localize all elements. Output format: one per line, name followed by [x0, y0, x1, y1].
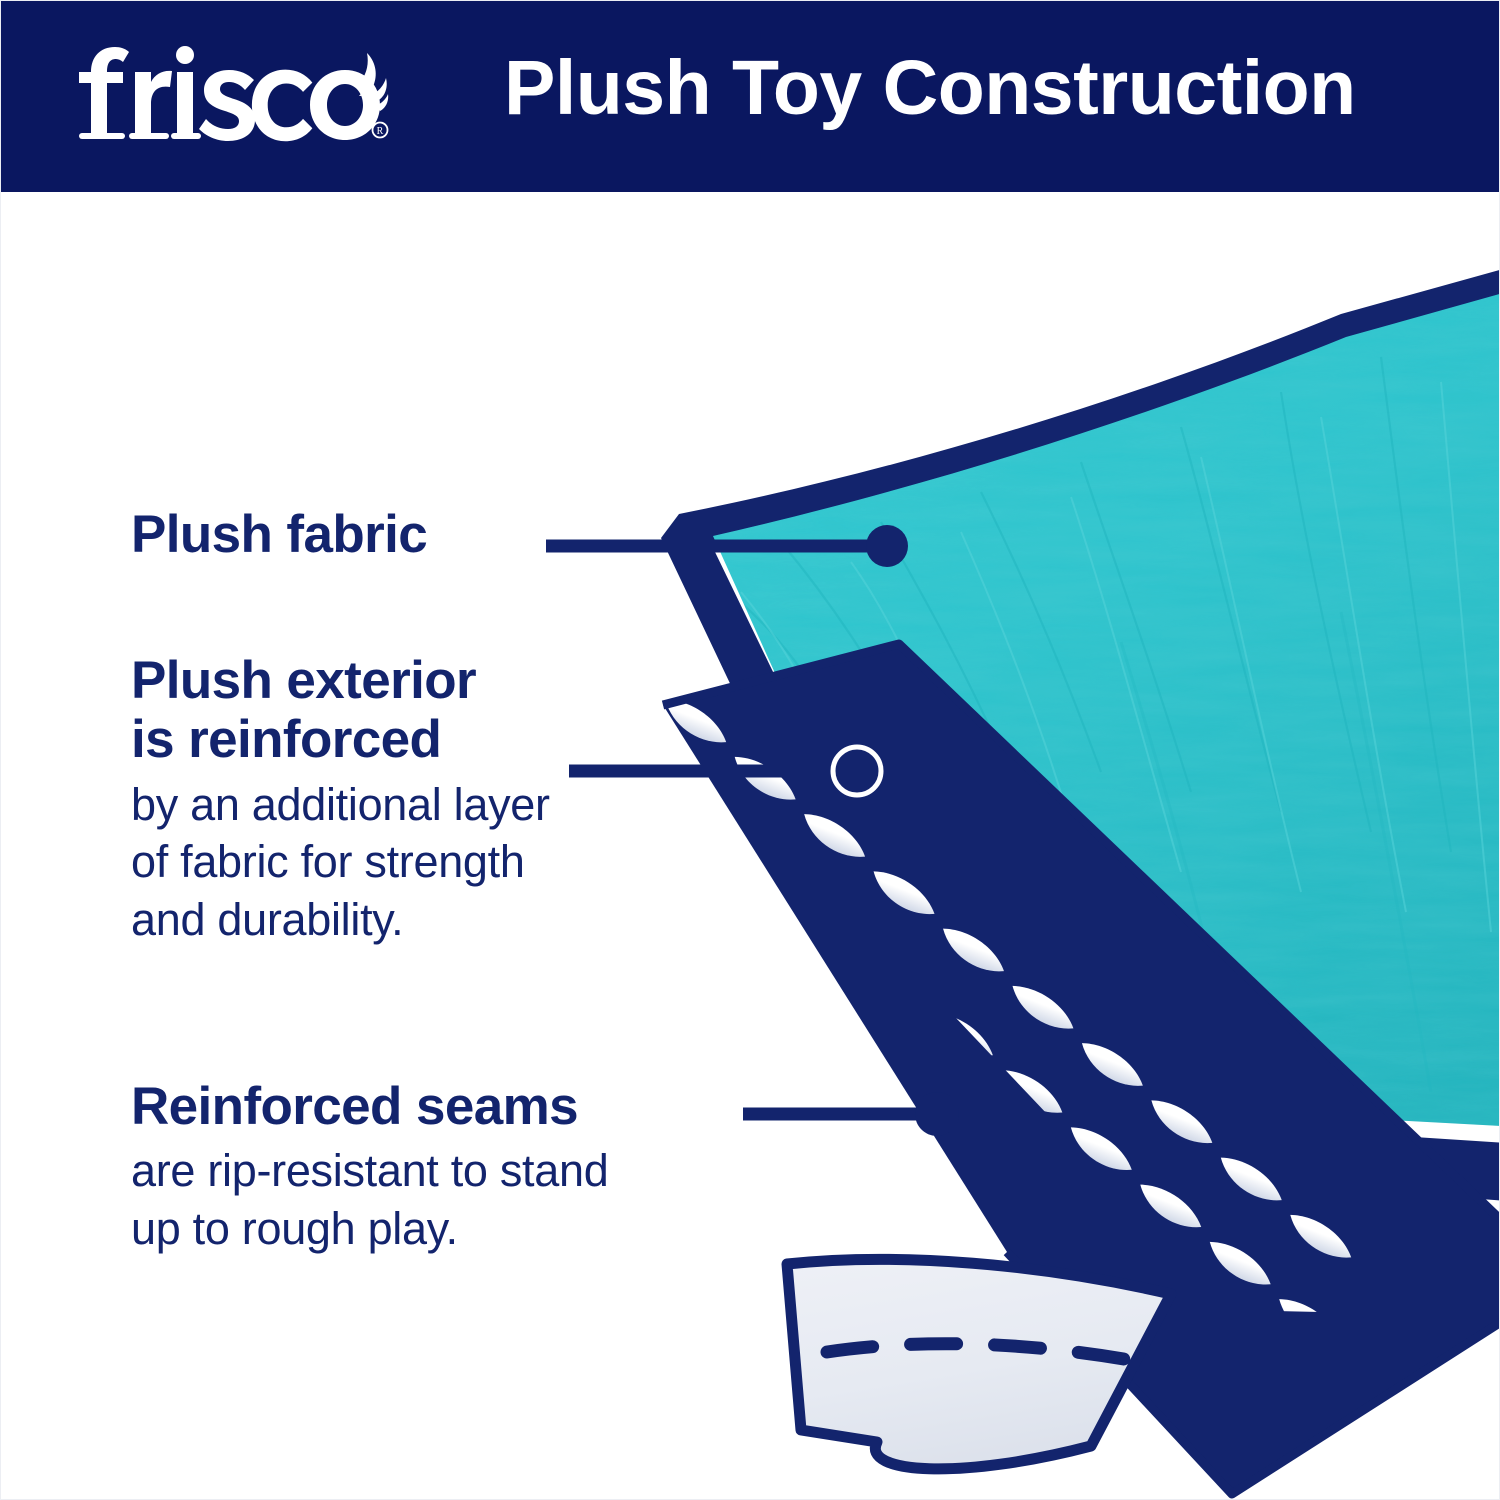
frisco-logo: R — [73, 39, 393, 149]
callout-reinforced-seams: Reinforced seams are rip-resistant to st… — [131, 1077, 791, 1258]
registered-trademark-icon: R — [373, 123, 388, 138]
callout-plush-exterior-body: by an additional layer of fabric for str… — [131, 776, 731, 949]
header-bar: R Plush Toy Construction — [1, 1, 1500, 192]
svg-text:R: R — [377, 126, 384, 137]
callout-plush-fabric-heading: Plush fabric — [131, 505, 571, 564]
seam-flap — [787, 1259, 1171, 1468]
callout-reinforced-seams-body: are rip-resistant to stand up to rough p… — [131, 1142, 791, 1257]
callout-plush-exterior-heading: Plush exterior is reinforced — [131, 651, 731, 770]
callout-plush-exterior: Plush exterior is reinforced by an addit… — [131, 651, 731, 949]
callout-reinforced-seams-heading: Reinforced seams — [131, 1077, 791, 1136]
callout-plush-fabric: Plush fabric — [131, 505, 571, 564]
page-title: Plush Toy Construction — [504, 45, 1356, 131]
infographic-page: R Plush Toy Construction — [0, 0, 1500, 1500]
